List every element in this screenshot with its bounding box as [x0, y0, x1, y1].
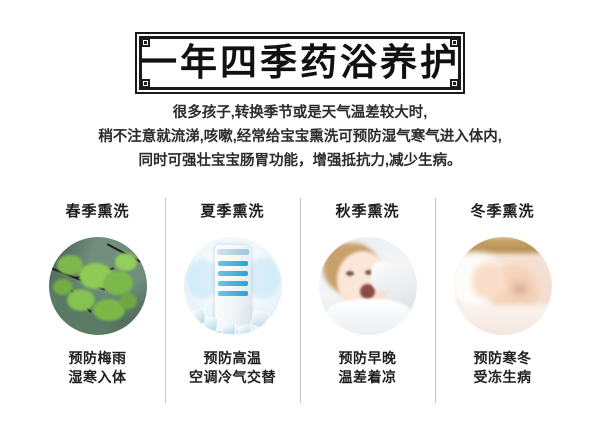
sneezing-baby-photo	[319, 237, 417, 335]
season-title-summer: 夏季熏洗	[200, 200, 264, 221]
spring-foliage-photo	[49, 237, 147, 335]
frame-corner-bottom-right-icon	[450, 79, 459, 88]
intro-line-2: 稍不注意就流涕,咳嗽,经常给宝宝熏洗可预防湿气寒气进入体内,	[0, 125, 600, 149]
intro-line-3: 同时可强壮宝宝肠胃功能，增强抵抗力,减少生病。	[0, 149, 600, 173]
intro-paragraph: 很多孩子,转换季节或是天气温差较大时, 稍不注意就流涕,咳嗽,经常给宝宝熏洗可预…	[0, 101, 600, 173]
season-caption-autumn: 预防早晚 温差着凉	[339, 349, 397, 387]
season-caption-spring-line-2: 湿寒入体	[69, 368, 127, 387]
season-title-spring: 春季熏洗	[65, 200, 129, 221]
season-title-autumn: 秋季熏洗	[335, 200, 399, 221]
season-caption-summer-line-1: 预防高温	[189, 349, 276, 368]
season-caption-winter: 预防寒冬 受冻生病	[474, 349, 532, 387]
season-caption-winter-line-1: 预防寒冬	[474, 349, 532, 368]
season-caption-spring-line-1: 预防梅雨	[69, 349, 127, 368]
season-caption-summer-line-2: 空调冷气交替	[189, 368, 276, 387]
season-column-autumn: 秋季熏洗 预防早晚 温差着凉	[300, 196, 435, 406]
frame-corner-bottom-left-icon	[141, 79, 150, 88]
frame-corner-top-right-icon	[450, 38, 459, 47]
season-columns: 春季熏洗 预防梅雨 湿寒入体 夏季熏洗	[30, 196, 570, 406]
title-banner-frame: 一年四季药浴养护	[135, 32, 465, 94]
season-caption-autumn-line-1: 预防早晚	[339, 349, 397, 368]
season-caption-summer: 预防高温 空调冷气交替	[189, 349, 276, 387]
season-caption-spring: 预防梅雨 湿寒入体	[69, 349, 127, 387]
frame-corner-top-left-icon	[141, 38, 150, 47]
season-caption-autumn-line-2: 温差着凉	[339, 368, 397, 387]
child-in-bed-photo	[454, 237, 552, 335]
title-banner-inner: 一年四季药浴养护	[139, 36, 461, 90]
intro-line-1: 很多孩子,转换季节或是天气温差较大时,	[0, 101, 600, 125]
page-title: 一年四季药浴养护	[140, 45, 460, 82]
season-caption-winter-line-2: 受冻生病	[474, 368, 532, 387]
air-conditioner-photo	[184, 237, 282, 335]
season-title-winter: 冬季熏洗	[470, 200, 534, 221]
season-column-summer: 夏季熏洗 预防高温 空调冷气交替	[165, 196, 300, 406]
season-column-spring: 春季熏洗 预防梅雨 湿寒入体	[30, 196, 165, 406]
season-column-winter: 冬季熏洗 预防寒冬 受冻生病	[435, 196, 570, 406]
